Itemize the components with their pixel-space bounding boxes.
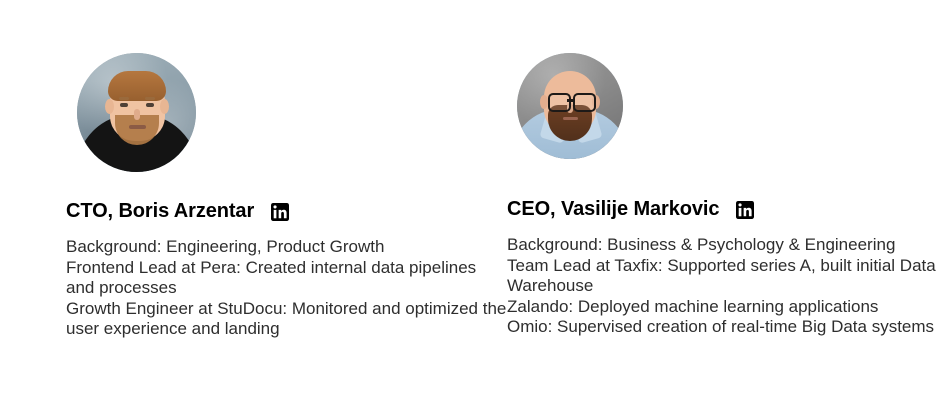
member-bio-ceo: Background: Business & Psychology & Engi… [507,235,948,338]
avatar-ear-left [105,99,114,114]
avatar-ear-right [160,99,169,114]
linkedin-link-cto[interactable] [271,203,289,221]
member-name-row: CEO, Vasilije Markovic [507,198,948,221]
member-name-row: CTO, Boris Arzentar [66,200,507,223]
avatar-nose [134,109,140,120]
avatar-hair [108,71,166,101]
avatar-glasses-right [573,93,596,112]
member-bio-cto: Background: Engineering, Product Growth … [66,237,507,340]
team-member-card-cto: CTO, Boris Arzentar Background: Engineer… [66,0,507,412]
avatar-vasilije-markovic [517,53,623,159]
avatar-boris-arzentar [77,53,196,172]
avatar-glasses-left [548,93,571,112]
avatar-mouth [563,117,578,120]
avatar-eye-right [146,103,154,107]
team-members-grid: CTO, Boris Arzentar Background: Engineer… [0,0,948,412]
linkedin-link-ceo[interactable] [736,201,754,219]
team-member-card-ceo: CEO, Vasilije Markovic Background: Busin… [507,0,948,412]
avatar-eye-left [120,103,128,107]
avatar-glasses-bridge [567,99,573,102]
avatar-ear-left [540,95,548,109]
member-name-cto: CTO, Boris Arzentar [66,200,254,223]
linkedin-icon[interactable] [736,201,754,219]
avatar-mouth [129,125,146,129]
member-name-ceo: CEO, Vasilije Markovic [507,198,719,221]
linkedin-icon[interactable] [271,203,289,221]
avatar-eyebrow-right [145,97,155,100]
avatar-eyebrow-left [119,97,129,100]
